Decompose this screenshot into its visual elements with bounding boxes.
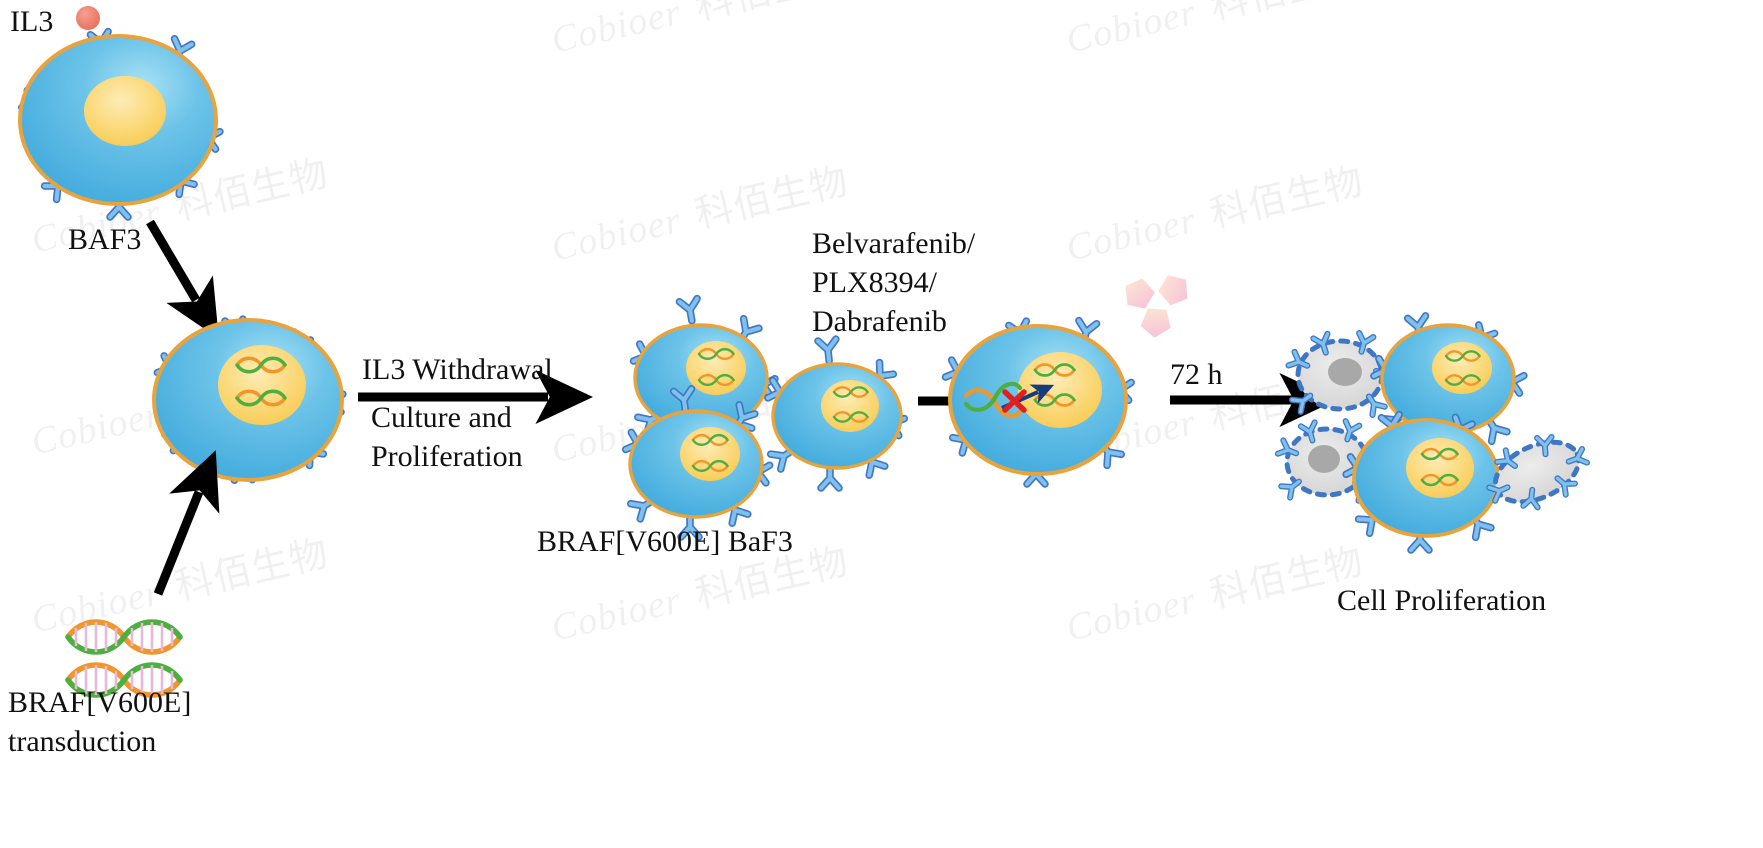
receptor-group bbox=[626, 389, 770, 537]
receptor-group bbox=[1374, 316, 1524, 441]
signaling-strand bbox=[966, 384, 1020, 416]
label-il3: IL3 bbox=[10, 2, 53, 41]
nuclear-dna bbox=[1446, 375, 1480, 384]
cell-nucleus bbox=[1432, 342, 1492, 394]
receptor-group bbox=[1278, 421, 1379, 500]
receptor-group bbox=[634, 299, 775, 450]
receptor-group bbox=[946, 321, 1132, 484]
label-incubation-time: 72 h bbox=[1170, 355, 1223, 394]
signal-arrow bbox=[1002, 392, 1038, 408]
cell-baf3 bbox=[20, 32, 220, 217]
cell-membrane bbox=[630, 411, 762, 517]
nuclear-dna bbox=[699, 349, 734, 359]
receptor-group bbox=[22, 32, 220, 217]
receptor-group bbox=[157, 319, 343, 480]
cell-nucleus bbox=[1018, 352, 1102, 428]
cell-membrane bbox=[950, 326, 1126, 474]
label-cell-proliferation: Cell Proliferation bbox=[1337, 581, 1546, 620]
label-braf-transduction: BRAF[V600E] transduction bbox=[8, 683, 191, 761]
cell-nucleus bbox=[1406, 438, 1474, 498]
nuclear-dna bbox=[1035, 394, 1074, 405]
label-culture-proliferation: Culture and Proliferation bbox=[371, 398, 523, 476]
label-braf-baf3: BRAF[V600E] BaF3 bbox=[537, 522, 793, 561]
condensed-nucleus bbox=[1328, 358, 1362, 386]
watermark: Cobioer科佰生物 bbox=[1060, 530, 1368, 652]
cell-membrane bbox=[635, 325, 767, 431]
receptor-group bbox=[768, 339, 904, 488]
cell-membrane bbox=[773, 364, 901, 468]
cell-cluster-a bbox=[634, 299, 775, 450]
live-cell-bottom bbox=[1346, 415, 1506, 550]
diagram-graphics bbox=[0, 0, 1763, 848]
nuclear-dna bbox=[1035, 364, 1074, 375]
watermark: Cobioer科佰生物 bbox=[1060, 150, 1368, 272]
figure-canvas: Cobioer科佰生物 Cobioer科佰生物 Cobioer科佰生物 Cobi… bbox=[0, 0, 1763, 848]
drug-molecules-upper bbox=[1122, 270, 1193, 342]
nuclear-dna bbox=[834, 387, 868, 396]
watermark: Cobioer科佰生物 bbox=[25, 344, 333, 466]
il3-ligand-dot bbox=[76, 6, 100, 30]
nuclear-dna bbox=[237, 391, 285, 405]
arrow-dna-to-cell bbox=[158, 492, 199, 594]
cell-nucleus bbox=[680, 427, 740, 481]
cell-membrane bbox=[154, 320, 342, 480]
nuclear-dna bbox=[1446, 351, 1480, 360]
apoptotic-membrane bbox=[1287, 429, 1367, 495]
receptor-group bbox=[1289, 333, 1394, 415]
label-baf3: BAF3 bbox=[68, 220, 141, 259]
watermark: Cobioer科佰生物 bbox=[545, 150, 853, 272]
label-drug-names: Belvarafenib/ PLX8394/ Dabrafenib bbox=[812, 224, 975, 341]
cell-drug-treated bbox=[946, 321, 1132, 484]
cell-membrane bbox=[1354, 420, 1498, 536]
cell-cluster-b bbox=[626, 389, 770, 537]
cell-nucleus bbox=[218, 345, 306, 425]
receptor-group bbox=[1478, 422, 1596, 522]
dead-cell-right bbox=[1478, 422, 1596, 522]
watermark: Cobioer科佰生物 bbox=[545, 352, 853, 474]
nuclear-dna bbox=[693, 435, 728, 445]
label-il3-withdrawal: IL3 Withdrawal bbox=[362, 350, 553, 389]
watermark: Cobioer科佰生物 bbox=[545, 0, 853, 64]
nuclear-dna bbox=[1422, 475, 1458, 485]
dead-cell-top bbox=[1289, 333, 1394, 415]
cell-cluster-c bbox=[768, 339, 904, 488]
nuclear-dna bbox=[693, 461, 728, 471]
inhibition-x-mark bbox=[1005, 392, 1024, 410]
cell-transduced bbox=[154, 319, 343, 480]
cell-membrane bbox=[20, 36, 216, 204]
nuclear-dna bbox=[237, 358, 285, 372]
cell-nucleus bbox=[686, 341, 746, 395]
nuclear-dna bbox=[834, 412, 868, 421]
apoptotic-membrane bbox=[1486, 430, 1588, 513]
cell-nucleus bbox=[821, 380, 879, 432]
arrow-baf3-to-transduced bbox=[150, 222, 196, 300]
cell-membrane bbox=[1382, 325, 1514, 433]
nuclear-dna bbox=[699, 375, 734, 385]
apoptotic-membrane bbox=[1298, 341, 1382, 409]
dead-cell-bottom bbox=[1278, 421, 1379, 500]
condensed-nucleus bbox=[1308, 445, 1340, 473]
cell-nucleus bbox=[84, 76, 166, 146]
nuclear-dna bbox=[1422, 449, 1458, 459]
watermark: Cobioer科佰生物 bbox=[1060, 0, 1368, 64]
receptor-group bbox=[1346, 415, 1506, 550]
live-cell-top bbox=[1374, 316, 1524, 441]
watermark: Cobioer科佰生物 bbox=[25, 522, 333, 644]
drug-molecules-lower bbox=[950, 365, 1024, 437]
